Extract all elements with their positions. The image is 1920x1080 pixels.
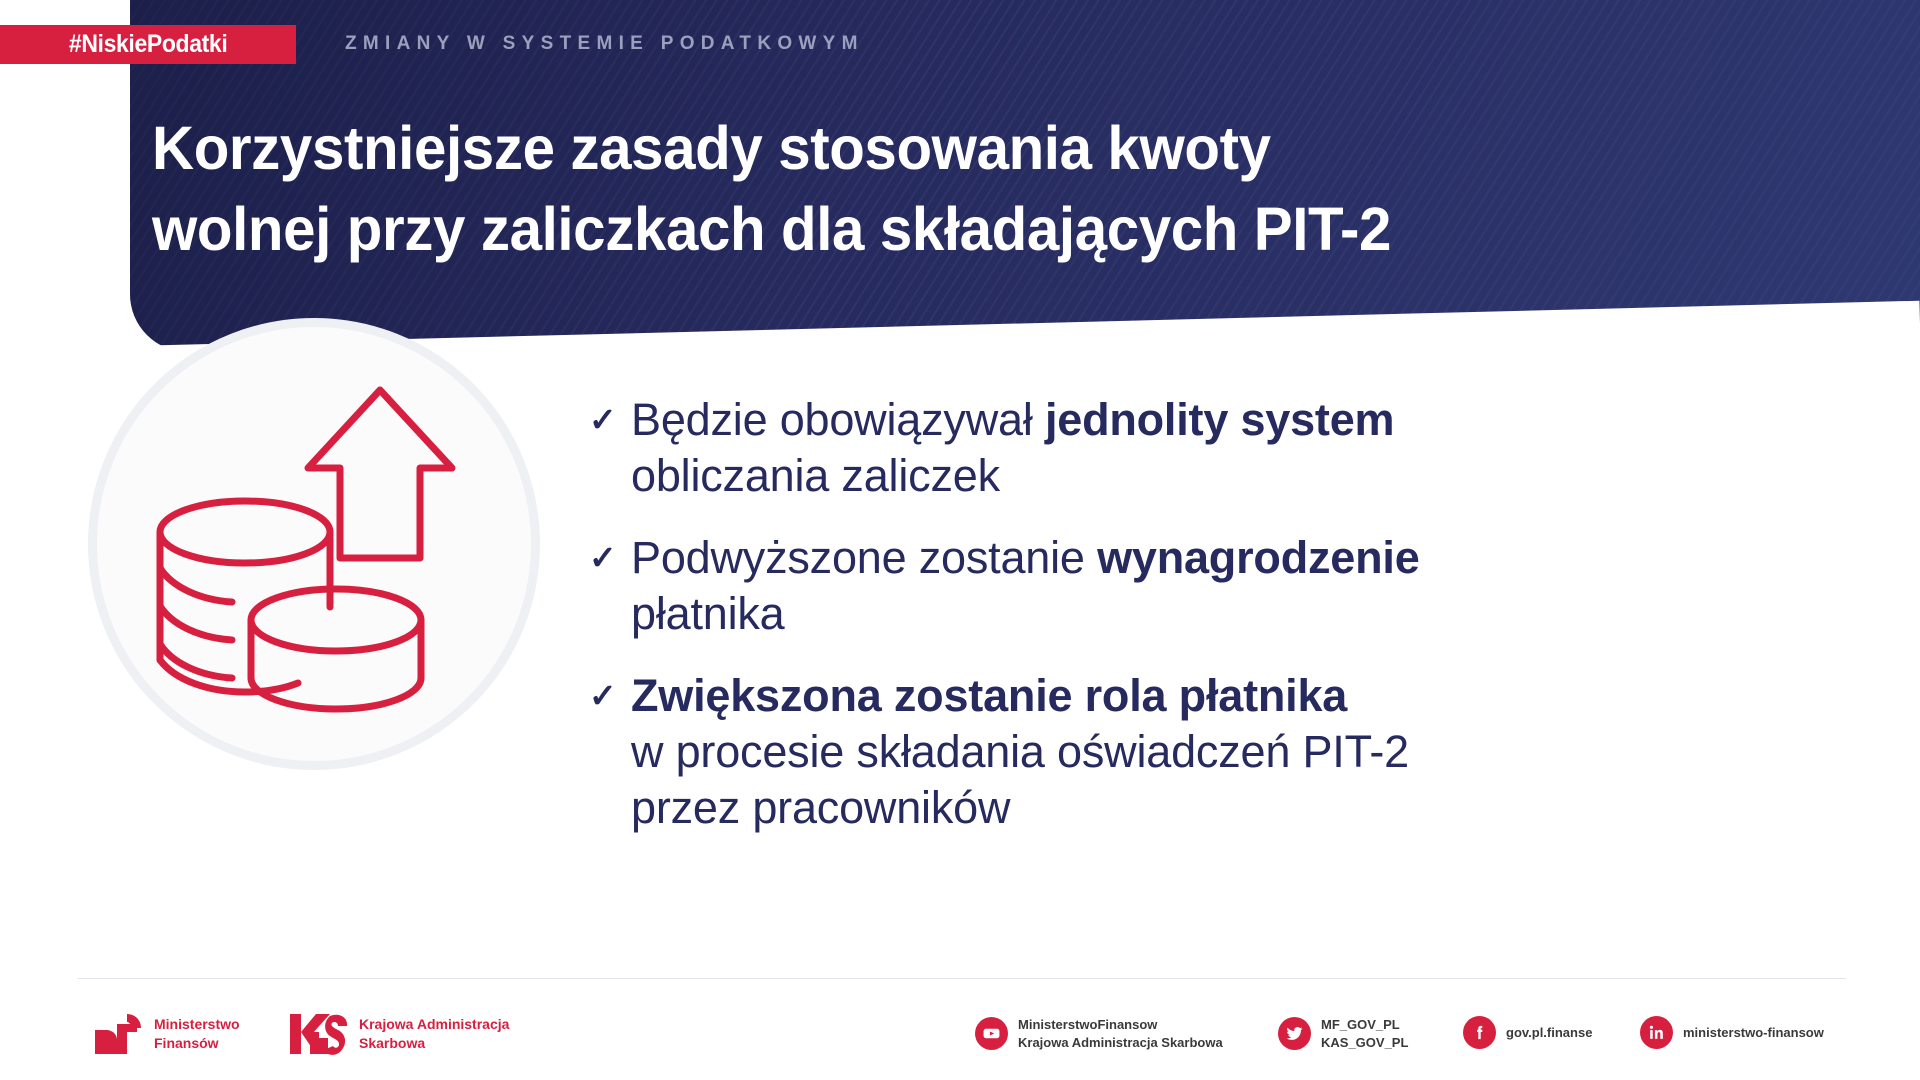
- social-linkedin-label: ministerstwo-finansow: [1683, 1024, 1824, 1042]
- header-eyebrow: ZMIANY W SYSTEMIE PODATKOWYM: [345, 33, 864, 55]
- mf-logo-text: Ministerstwo Finansów: [154, 1015, 240, 1052]
- list-item-line-2: w procesie składania oświadczeń PIT-2: [631, 724, 1875, 780]
- coins-stack-with-up-arrow-icon: [80, 310, 550, 780]
- mf-logo-icon: [95, 1014, 143, 1054]
- list-item-line-1: Zwiększona zostanie rola płatnika: [631, 668, 1875, 724]
- page-title: Korzystniejsze zasady stosowania kwoty w…: [152, 108, 1512, 270]
- twitter-glyph: [1285, 1024, 1304, 1043]
- list-item-line-3: przez pracowników: [631, 780, 1875, 836]
- list-item: ✓ Zwiększona zostanie rola płatnika w pr…: [585, 668, 1875, 836]
- kas-logo-line-2: Skarbowa: [359, 1034, 509, 1053]
- social-facebook[interactable]: gov.pl.finanse: [1463, 1016, 1592, 1049]
- list-item-text: Zwiększona zostanie rola płatnika w proc…: [631, 668, 1875, 836]
- hashtag-badge: #NiskiePodatki: [0, 25, 296, 64]
- page-title-line-2: wolnej przy zaliczkach dla składających …: [152, 189, 1451, 270]
- list-item-line-1: Będzie obowiązywał jednolity system: [631, 392, 1875, 448]
- social-twitter-line-1: MF_GOV_PL: [1321, 1016, 1408, 1034]
- social-twitter[interactable]: MF_GOV_PL KAS_GOV_PL: [1278, 1016, 1408, 1051]
- coins-illustration: [80, 310, 550, 780]
- list-item-text-normal: Podwyższone zostanie: [631, 532, 1097, 583]
- social-youtube-line-1: MinisterstwoFinansow: [1018, 1016, 1223, 1034]
- footer-divider: [78, 978, 1846, 979]
- hashtag-badge-label: #NiskiePodatki: [69, 30, 227, 59]
- list-item-line-2: obliczania zaliczek: [631, 448, 1875, 504]
- linkedin-glyph: [1647, 1023, 1666, 1042]
- list-item: ✓ Podwyższone zostanie wynagrodzenie pła…: [585, 530, 1875, 642]
- linkedin-icon[interactable]: [1640, 1016, 1673, 1049]
- mf-logo-line-1: Ministerstwo: [154, 1015, 240, 1034]
- social-facebook-line-1: gov.pl.finanse: [1506, 1024, 1592, 1042]
- youtube-glyph: [982, 1024, 1001, 1043]
- ministry-of-finance-logo: Ministerstwo Finansów: [95, 1014, 240, 1054]
- kas-logo-icon: [290, 1010, 348, 1058]
- facebook-glyph: [1470, 1023, 1489, 1042]
- social-twitter-line-2: KAS_GOV_PL: [1321, 1034, 1408, 1052]
- youtube-icon[interactable]: [975, 1017, 1008, 1050]
- kas-logo: Krajowa Administracja Skarbowa: [290, 1010, 509, 1058]
- list-item: ✓ Będzie obowiązywał jednolity system ob…: [585, 392, 1875, 504]
- benefits-list: ✓ Będzie obowiązywał jednolity system ob…: [585, 392, 1875, 862]
- list-item-line-2: płatnika: [631, 586, 1875, 642]
- footer: Ministerstwo Finansów Krajowa Administra…: [0, 1000, 1920, 1080]
- social-youtube-line-2: Krajowa Administracja Skarbowa: [1018, 1034, 1223, 1052]
- social-twitter-label: MF_GOV_PL KAS_GOV_PL: [1321, 1016, 1408, 1051]
- kas-logo-text: Krajowa Administracja Skarbowa: [359, 1015, 509, 1052]
- kas-logo-line-1: Krajowa Administracja: [359, 1015, 509, 1034]
- page-title-line-1: Korzystniejsze zasady stosowania kwoty: [152, 108, 1451, 189]
- social-linkedin-line-1: ministerstwo-finansow: [1683, 1024, 1824, 1042]
- twitter-icon[interactable]: [1278, 1017, 1311, 1050]
- list-item-line-1: Podwyższone zostanie wynagrodzenie: [631, 530, 1875, 586]
- list-item-text-bold: Zwiększona zostanie rola płatnika: [631, 670, 1347, 721]
- list-item-text-normal: Będzie obowiązywał: [631, 394, 1045, 445]
- list-item-text: Podwyższone zostanie wynagrodzenie płatn…: [631, 530, 1875, 642]
- list-item-text-bold: wynagrodzenie: [1097, 532, 1419, 583]
- check-icon: ✓: [585, 668, 631, 724]
- social-linkedin[interactable]: ministerstwo-finansow: [1640, 1016, 1824, 1049]
- check-icon: ✓: [585, 530, 631, 586]
- check-icon: ✓: [585, 392, 631, 448]
- social-youtube[interactable]: MinisterstwoFinansow Krajowa Administrac…: [975, 1016, 1223, 1051]
- social-facebook-label: gov.pl.finanse: [1506, 1024, 1592, 1042]
- facebook-icon[interactable]: [1463, 1016, 1496, 1049]
- social-youtube-label: MinisterstwoFinansow Krajowa Administrac…: [1018, 1016, 1223, 1051]
- list-item-text: Będzie obowiązywał jednolity system obli…: [631, 392, 1875, 504]
- list-item-text-bold: jednolity system: [1045, 394, 1394, 445]
- mf-logo-line-2: Finansów: [154, 1034, 240, 1053]
